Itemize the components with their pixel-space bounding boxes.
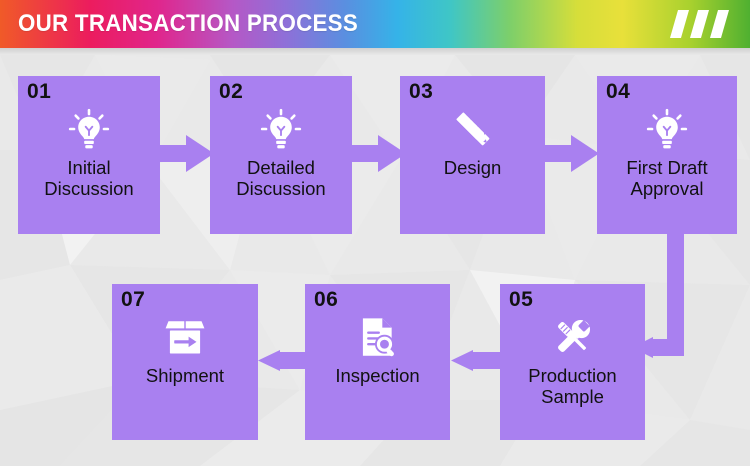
arrow-02-to-03 (350, 135, 406, 172)
step-label: First DraftApproval (597, 157, 737, 200)
step-label: DetailedDiscussion (210, 157, 352, 200)
header-banner: OUR TRANSACTION PROCESS (0, 0, 750, 48)
step-card-05[interactable]: 05 ProductionSample (500, 284, 645, 440)
header-shadow (0, 48, 750, 55)
step-label: Inspection (305, 365, 450, 386)
step-label: InitialDiscussion (18, 157, 160, 200)
wrench-screwdriver-icon (550, 314, 596, 360)
step-number: 04 (606, 80, 630, 104)
lightbulb-icon (644, 106, 690, 152)
step-card-03[interactable]: 03 Design (400, 76, 545, 234)
shipping-box-icon (162, 314, 208, 360)
step-label: Shipment (112, 365, 258, 386)
arrow-06-to-07 (258, 350, 306, 371)
lightbulb-icon (66, 106, 112, 152)
step-label: Design (400, 157, 545, 178)
step-number: 05 (509, 288, 533, 312)
step-label: ProductionSample (500, 365, 645, 408)
step-card-02[interactable]: 02 DetailedDiscussion (210, 76, 352, 234)
step-card-07[interactable]: 07 Shipment (112, 284, 258, 440)
step-number: 07 (121, 288, 145, 312)
arrow-05-to-06 (451, 350, 501, 371)
step-card-01[interactable]: 01 InitialDiscussion (18, 76, 160, 234)
accent-mark-1 (670, 10, 689, 38)
step-card-04[interactable]: 04 First DraftApproval (597, 76, 737, 234)
arrow-01-to-02 (158, 135, 214, 172)
step-number: 06 (314, 288, 338, 312)
ruler-pencil-icon (450, 106, 496, 152)
step-number: 01 (27, 80, 51, 104)
page-title: OUR TRANSACTION PROCESS (18, 10, 358, 38)
step-card-06[interactable]: 06 Inspection (305, 284, 450, 440)
lightbulb-icon (258, 106, 304, 152)
accent-marks (670, 10, 734, 38)
step-number: 02 (219, 80, 243, 104)
arrow-03-to-04 (543, 135, 599, 172)
document-search-icon (355, 314, 401, 360)
accent-mark-3 (710, 10, 729, 38)
accent-mark-2 (690, 10, 709, 38)
step-number: 03 (409, 80, 433, 104)
